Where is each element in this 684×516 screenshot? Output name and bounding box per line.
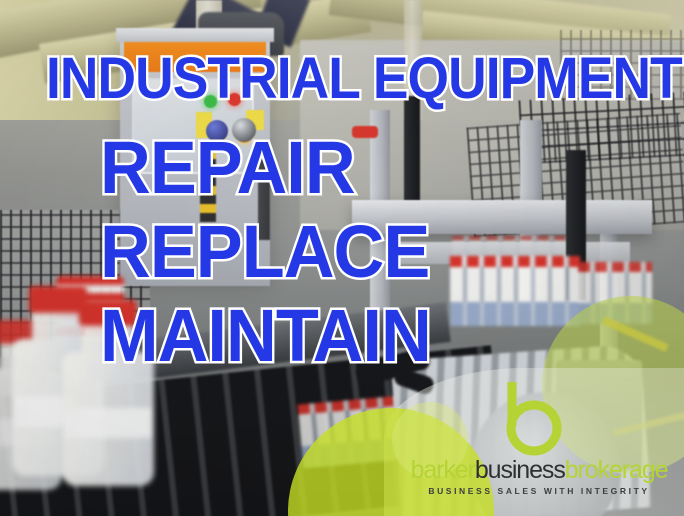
logo-b-mark-icon: [502, 380, 568, 456]
logo-word-business: business: [475, 456, 565, 484]
logo-wordmark: barkerbusinessbrokerage: [410, 456, 668, 485]
logo-tagline: BUSINESS SALES WITH INTEGRITY: [410, 486, 668, 496]
brand-logo[interactable]: barkerbusinessbrokerage BUSINESS SALES W…: [410, 380, 668, 502]
logo-word-barker: barker: [411, 456, 475, 484]
logo-word-brokerage: brokerage: [565, 456, 668, 484]
promotional-banner: INDUSTRIAL EQUIPMENT REPAIR REPLACE MAIN…: [0, 0, 684, 516]
